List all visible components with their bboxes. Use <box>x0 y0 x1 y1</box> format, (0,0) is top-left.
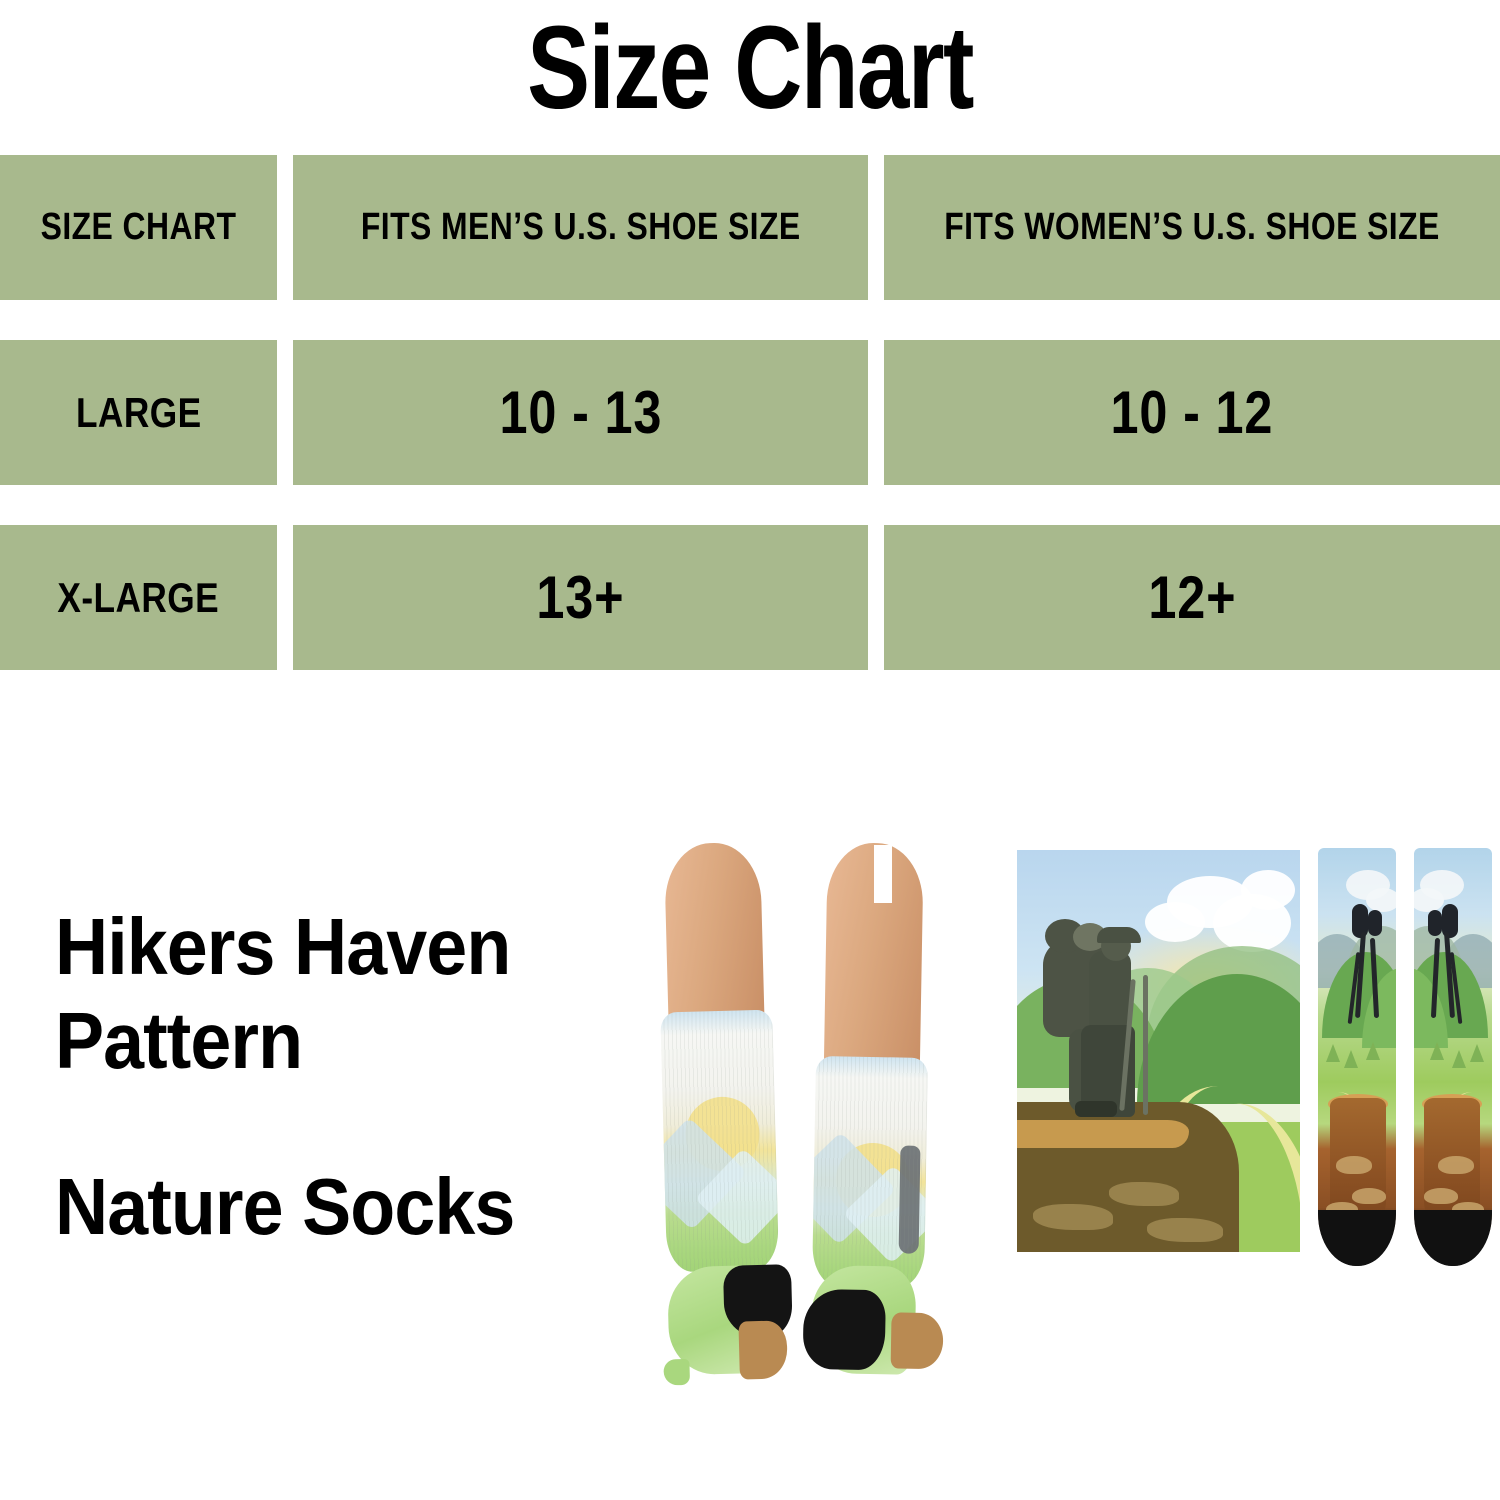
tree-icon <box>1344 1050 1358 1068</box>
product-name-line1: Hikers Haven <box>55 900 625 994</box>
tree-icon <box>1430 1042 1444 1060</box>
row-xlarge-size-label: X-LARGE <box>58 574 220 622</box>
product-text-block: Hikers Haven Pattern Nature Socks <box>55 900 675 1252</box>
header-cell-size-chart: SIZE CHART <box>0 155 277 300</box>
boot-patch <box>1424 1188 1458 1204</box>
rock-detail <box>1147 1218 1223 1242</box>
row-xlarge-mens-value: 13+ <box>536 563 624 632</box>
row-large-womens-value: 10 - 12 <box>1111 378 1274 447</box>
header-label-size-chart: SIZE CHART <box>41 206 237 249</box>
cloud-icon <box>1241 870 1295 910</box>
row-xlarge-womens-cell: 12+ <box>884 525 1500 670</box>
boot-patch <box>1438 1156 1474 1174</box>
flat-socks-panel <box>1318 848 1498 1266</box>
table-row: X-LARGE 13+ 12+ <box>0 525 1500 670</box>
right-heel-black <box>803 1289 886 1370</box>
table-row: LARGE 10 - 13 10 - 12 <box>0 340 1500 485</box>
photo-white-notch <box>874 845 892 903</box>
sock-toe-black <box>1318 1210 1396 1266</box>
hiker-torso <box>1089 951 1131 1033</box>
boot-lace-hook <box>1368 910 1382 936</box>
hiking-boot-icon <box>1330 1098 1386 1228</box>
cloud-icon <box>1414 888 1444 912</box>
left-toe-tip <box>663 1359 690 1386</box>
right-leg <box>810 842 931 1389</box>
table-header-row: SIZE CHART FITS MEN’S U.S. SHOE SIZE FIT… <box>0 155 1500 300</box>
hiking-boot-icon <box>1424 1098 1480 1228</box>
row-large-womens-cell: 10 - 12 <box>884 340 1500 485</box>
row-xlarge-size-cell: X-LARGE <box>0 525 277 670</box>
header-label-womens: FITS WOMEN’S U.S. SHOE SIZE <box>944 206 1440 249</box>
left-sock-leg <box>660 1010 779 1273</box>
rock-detail <box>1033 1204 1113 1230</box>
header-cell-womens: FITS WOMEN’S U.S. SHOE SIZE <box>884 155 1500 300</box>
size-chart-table: SIZE CHART FITS MEN’S U.S. SHOE SIZE FIT… <box>0 155 1500 710</box>
boot-lace-hook <box>1428 910 1442 936</box>
left-sole-tan <box>738 1320 788 1379</box>
sock-toe-black <box>1414 1210 1492 1266</box>
row-large-mens-cell: 10 - 13 <box>293 340 868 485</box>
product-subtitle: Nature Socks <box>55 1162 625 1252</box>
left-foot <box>661 1258 792 1389</box>
worn-socks-photo <box>655 843 955 1388</box>
left-calf-skin <box>664 842 765 1034</box>
right-foot <box>804 1259 934 1389</box>
tree-icon <box>1366 1042 1380 1060</box>
right-sock-leg <box>812 1056 928 1288</box>
tree-icon <box>1470 1044 1484 1062</box>
right-sole-tan <box>891 1312 944 1369</box>
tree-icon <box>1326 1044 1340 1062</box>
row-xlarge-womens-value: 12+ <box>1148 563 1236 632</box>
page-title: Size Chart <box>150 4 1350 132</box>
product-name-line2: Pattern <box>55 994 625 1088</box>
header-label-mens: FITS MEN’S U.S. SHOE SIZE <box>361 206 801 249</box>
row-large-mens-value: 10 - 13 <box>499 378 662 447</box>
rock-detail <box>1109 1182 1179 1206</box>
hiker-illustration-panel <box>1017 850 1300 1252</box>
left-leg <box>656 842 782 1390</box>
boot-patch <box>1352 1188 1386 1204</box>
tree-icon <box>1452 1050 1466 1068</box>
trekking-pole <box>1143 975 1148 1115</box>
flat-sock-left <box>1318 848 1396 1266</box>
row-xlarge-mens-cell: 13+ <box>293 525 868 670</box>
row-large-size-cell: LARGE <box>0 340 277 485</box>
sock-hiker-motif <box>899 1146 921 1254</box>
hiker-figure <box>1039 917 1169 1132</box>
size-chart-page: Size Chart SIZE CHART FITS MEN’S U.S. SH… <box>0 0 1500 1500</box>
boot-patch <box>1336 1156 1372 1174</box>
header-cell-mens: FITS MEN’S U.S. SHOE SIZE <box>293 155 868 300</box>
hiker-cap <box>1097 927 1141 943</box>
cloud-icon <box>1366 888 1396 912</box>
hiker-boot <box>1075 1101 1117 1117</box>
row-large-size-label: LARGE <box>76 389 202 437</box>
flat-sock-right <box>1414 848 1492 1266</box>
